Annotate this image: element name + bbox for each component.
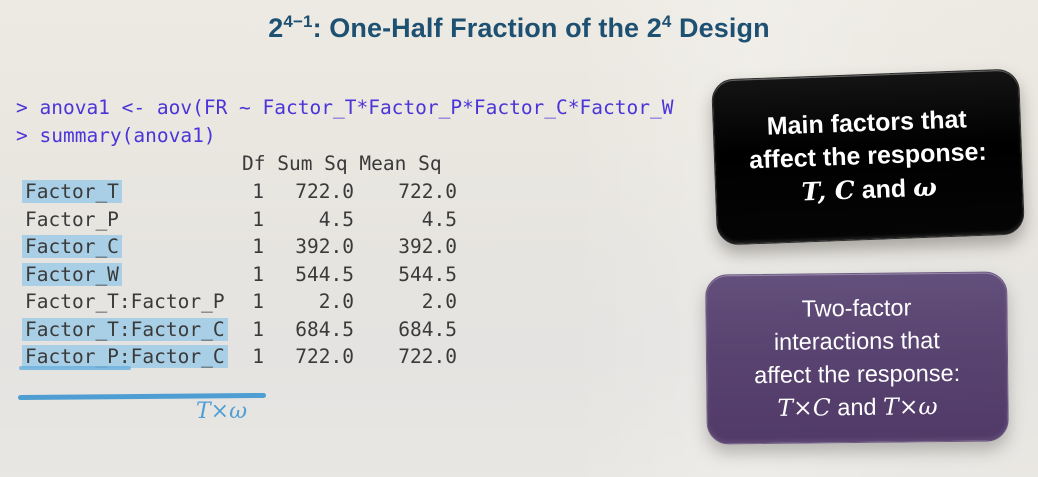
callout-purple-line-1: Two-factor — [718, 291, 994, 327]
cell-df: 1 — [242, 235, 264, 258]
table-header-labels: Df Sum Sq Mean Sq — [242, 152, 442, 175]
row-label: Factor_W — [22, 263, 122, 286]
cell-mean-sq: 722.0 — [354, 180, 457, 203]
row-label: Factor_P:Factor_C — [22, 345, 228, 368]
console-command-line-2: > summary(anova1) — [16, 122, 216, 150]
cell-sum-sq: 392.0 — [264, 235, 354, 258]
callout-purple-line-3: affect the response: — [719, 357, 995, 393]
annotation-t-times-omega: T×ω — [196, 399, 247, 424]
callout-two-factor-interactions: Two-factor interactions that affect the … — [705, 271, 1009, 444]
cell-df: 1 — [242, 263, 264, 286]
callout-main-factors: Main factors that affect the response: T… — [711, 68, 1025, 245]
row-label: Factor_T:Factor_P — [22, 290, 228, 313]
cell-sum-sq: 2.0 — [264, 290, 354, 313]
cell-mean-sq: 722.0 — [354, 345, 457, 368]
callout-black-math-1: T, C — [801, 176, 855, 207]
row-values: 1544.5544.5 — [242, 263, 457, 286]
title-base: 2 — [268, 13, 283, 43]
cell-df: 1 — [242, 345, 264, 368]
callout-purple-line-2: interactions that — [719, 324, 995, 360]
cell-sum-sq: 722.0 — [264, 345, 354, 368]
row-values: 1722.0722.0 — [242, 180, 457, 203]
cell-sum-sq: 4.5 — [264, 208, 354, 231]
title-suffix: Design — [671, 13, 769, 43]
row-values: 1684.5684.5 — [242, 318, 457, 341]
cell-df: 1 — [242, 208, 264, 231]
annotation-underline-secondary — [19, 366, 131, 370]
callout-purple-math-1: T×C — [777, 393, 831, 422]
title-exponent-1: 4−1 — [283, 12, 312, 31]
cell-mean-sq: 392.0 — [354, 235, 457, 258]
callout-purple-conjunction: and — [831, 394, 884, 421]
cell-mean-sq: 4.5 — [354, 208, 457, 231]
row-values: 1722.0722.0 — [242, 345, 457, 368]
row-label: Factor_C — [22, 235, 122, 258]
callout-black-text: Main factors that affect the response: T… — [713, 101, 1022, 212]
cell-df: 1 — [242, 318, 264, 341]
row-values: 14.54.5 — [242, 208, 457, 231]
cell-sum-sq: 684.5 — [264, 318, 354, 341]
row-label: Factor_T — [22, 180, 122, 203]
row-label: Factor_P — [22, 208, 122, 231]
cell-mean-sq: 544.5 — [354, 263, 457, 286]
cell-mean-sq: 684.5 — [354, 318, 457, 341]
callout-black-math-2: ω — [912, 173, 937, 203]
cell-sum-sq: 544.5 — [264, 263, 354, 286]
console-command-line-1: > anova1 <- aov(FR ~ Factor_T*Factor_P*F… — [16, 94, 728, 122]
cell-df: 1 — [242, 290, 264, 313]
callout-black-conjunction: and — [854, 174, 913, 204]
page-title: 24−1: One-Half Fraction of the 24 Design — [0, 13, 1038, 44]
slide-canvas: 24−1: One-Half Fraction of the 24 Design… — [0, 0, 1038, 477]
cell-mean-sq: 2.0 — [354, 290, 457, 313]
row-values: 1392.0392.0 — [242, 235, 457, 258]
row-label: Factor_T:Factor_C — [22, 318, 228, 341]
row-values: 12.02.0 — [242, 290, 457, 313]
cell-sum-sq: 722.0 — [264, 180, 354, 203]
callout-purple-line-4: T×C and T×ω — [719, 390, 995, 426]
callout-purple-text: Two-factor interactions that affect the … — [706, 290, 1007, 425]
title-middle: : One-Half Fraction of the 2 — [313, 13, 662, 43]
callout-purple-math-2: T×ω — [883, 392, 938, 421]
cell-df: 1 — [242, 180, 264, 203]
